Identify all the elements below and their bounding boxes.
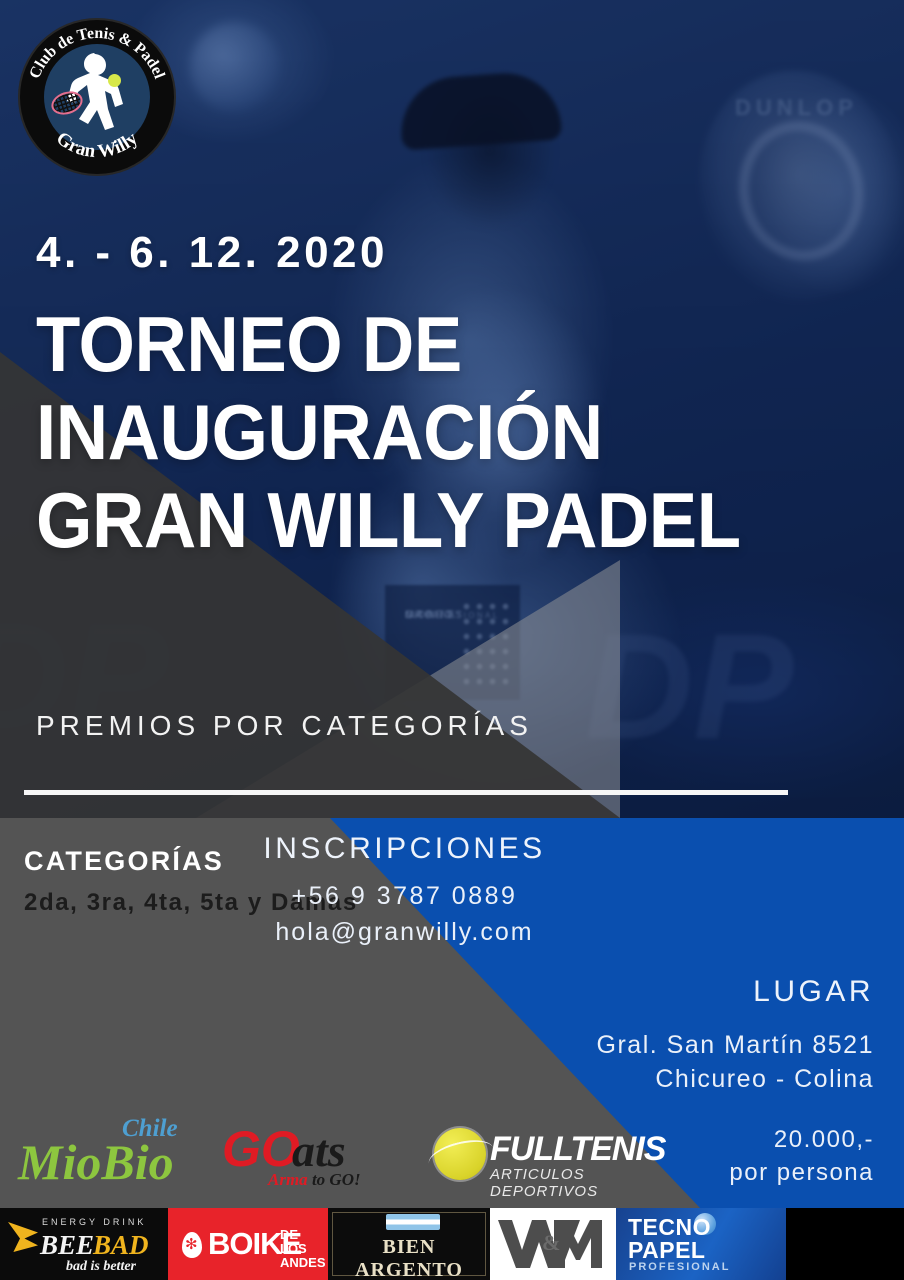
sponsor-goats-tagline-red: Arma	[268, 1170, 308, 1189]
sponsor-boike-sub1: DE LOS	[280, 1227, 307, 1256]
sponsor-fulltenis-name: FULLTENIS	[490, 1130, 665, 1169]
tournament-poster: DUNLOP DP DP MONTE CARLO INTERNATIONAL S…	[0, 0, 904, 1280]
sponsor-fulltenis-logo: FULLTENIS ARTICULOS DEPORTIVOS	[434, 1124, 634, 1186]
sponsor-miobio-suffix: Chile	[122, 1115, 178, 1143]
event-date: 4. - 6. 12. 2020	[36, 228, 388, 278]
sponsor-goats-logo: GO ats Arma to GO!	[222, 1118, 382, 1190]
event-headline: TORNEO DE INAUGURACIÓN GRAN WILLY PADEL	[36, 300, 817, 564]
inscriptions-email[interactable]: hola@granwilly.com	[0, 918, 904, 947]
sponsor-goats-tagline: Arma to GO!	[268, 1170, 361, 1190]
sponsor-wm-cell: &	[490, 1208, 616, 1280]
tennis-ball-icon	[434, 1128, 486, 1180]
sponsor-fulltenis-sub: ARTICULOS DEPORTIVOS	[490, 1166, 634, 1200]
argentina-flag-icon	[386, 1214, 440, 1230]
headline-line-3: GRAN WILLY PADEL	[36, 476, 817, 564]
bee-icon	[8, 1222, 38, 1252]
sponsor-tecnopapel-line2: PAPEL	[628, 1237, 705, 1264]
sponsor-wm-ampersand: &	[542, 1230, 560, 1256]
sponsor-strip: ENERGY DRINK BEE BAD bad is better BOIKE…	[0, 1208, 904, 1280]
price-unit: por persona	[729, 1159, 874, 1187]
venue-address-line-1: Gral. San Martín 8521	[597, 1031, 874, 1060]
sponsor-beebad-tagline: bad is better	[66, 1259, 136, 1275]
prizes-subheading: PREMIOS POR CATEGORÍAS	[36, 710, 533, 742]
sponsor-boike-sub2: ANDES	[280, 1255, 326, 1270]
sponsor-boike-cell: BOIKE DE LOS ANDES	[168, 1208, 328, 1280]
headline-line-2: INAUGURACIÓN	[36, 388, 817, 476]
sponsor-beebad-top: ENERGY DRINK	[42, 1217, 146, 1227]
inscriptions-title: INSCRIPCIONES	[0, 832, 904, 866]
logo-tennis-ball-icon	[108, 74, 121, 87]
sponsor-boike-sub: DE LOS ANDES	[280, 1228, 328, 1270]
sponsor-bienargento-cell: BIEN ARGENTO	[328, 1208, 490, 1280]
headline-line-1: TORNEO DE	[36, 300, 817, 388]
divider-rule	[24, 790, 788, 795]
sponsor-bienargento-name: BIEN ARGENTO	[338, 1236, 480, 1280]
venue-title: LUGAR	[753, 975, 874, 1009]
club-logo: Club de Tenis & Padel Gran Willy	[18, 18, 176, 176]
venue-address-line-2: Chicureo - Colina	[655, 1065, 874, 1094]
sponsor-goats-tagline-rest: to GO!	[308, 1170, 361, 1189]
droplet-icon	[182, 1232, 202, 1258]
sponsor-beebad-name2: BAD	[93, 1230, 149, 1261]
sponsor-beebad-cell: ENERGY DRINK BEE BAD bad is better	[0, 1208, 168, 1280]
sponsor-strip-blank-cell	[786, 1208, 904, 1280]
inscriptions-phone[interactable]: +56 9 3787 0889	[0, 882, 904, 911]
price-amount: 20.000,-	[774, 1126, 874, 1154]
sponsor-miobio-logo: MioBio Chile	[18, 1115, 198, 1190]
sponsor-tecnopapel-cell: TECNO PAPEL PROFESIONAL	[616, 1208, 786, 1280]
sponsor-tecnopapel-line3: PROFESIONAL	[629, 1261, 730, 1273]
sponsor-beebad-name: BEE	[40, 1230, 94, 1261]
